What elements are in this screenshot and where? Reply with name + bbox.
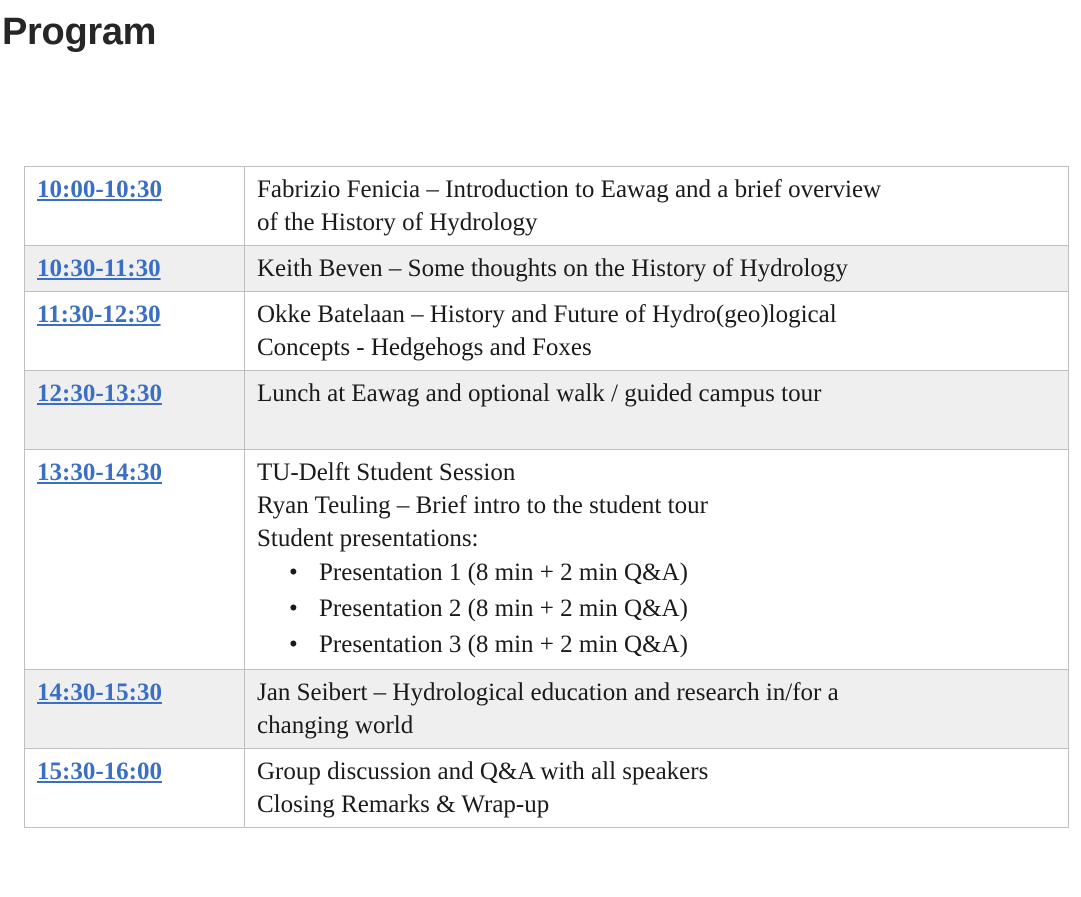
- schedule-description-line: of the History of Hydrology: [257, 206, 1058, 239]
- schedule-row: 14:30-15:30Jan Seibert – Hydrological ed…: [25, 670, 1069, 749]
- schedule-description-cell: TU-Delft Student SessionRyan Teuling – B…: [245, 450, 1069, 670]
- schedule-bullet-item: Presentation 1 (8 min + 2 min Q&A): [319, 555, 1058, 591]
- schedule-description-line: Closing Remarks & Wrap-up: [257, 788, 1058, 821]
- schedule-time-link[interactable]: 12:30-13:30: [37, 380, 162, 407]
- schedule-row: 11:30-12:30Okke Batelaan – History and F…: [25, 292, 1069, 371]
- schedule-description-cell: Lunch at Eawag and optional walk / guide…: [245, 371, 1069, 450]
- page-title: Program: [0, 0, 1081, 54]
- schedule-row: 12:30-13:30Lunch at Eawag and optional w…: [25, 371, 1069, 450]
- schedule-description-cell: Keith Beven – Some thoughts on the Histo…: [245, 246, 1069, 292]
- schedule-spacer-line: [257, 410, 1058, 443]
- schedule-time-cell: 14:30-15:30: [25, 670, 245, 749]
- schedule-row: 13:30-14:30TU-Delft Student SessionRyan …: [25, 450, 1069, 670]
- schedule-time-cell: 13:30-14:30: [25, 450, 245, 670]
- schedule-description-line: Group discussion and Q&A with all speake…: [257, 755, 1058, 788]
- schedule-time-link[interactable]: 15:30-16:00: [37, 758, 162, 785]
- schedule-row: 10:00-10:30Fabrizio Fenicia – Introducti…: [25, 167, 1069, 246]
- schedule-description-line: Keith Beven – Some thoughts on the Histo…: [257, 252, 1058, 285]
- schedule-description-cell: Group discussion and Q&A with all speake…: [245, 749, 1069, 828]
- schedule-row: 15:30-16:00Group discussion and Q&A with…: [25, 749, 1069, 828]
- schedule-description-line: Ryan Teuling – Brief intro to the studen…: [257, 489, 1058, 522]
- schedule-time-link[interactable]: 10:00-10:30: [37, 176, 162, 203]
- schedule-time-link[interactable]: 11:30-12:30: [37, 301, 161, 328]
- schedule-row: 10:30-11:30Keith Beven – Some thoughts o…: [25, 246, 1069, 292]
- schedule-description-line: Concepts - Hedgehogs and Foxes: [257, 331, 1058, 364]
- schedule-bullet-item: Presentation 3 (8 min + 2 min Q&A): [319, 627, 1058, 663]
- schedule-description-line: Jan Seibert – Hydrological education and…: [257, 676, 1058, 709]
- schedule-description-cell: Fabrizio Fenicia – Introduction to Eawag…: [245, 167, 1069, 246]
- schedule-description-line: Fabrizio Fenicia – Introduction to Eawag…: [257, 173, 1058, 206]
- schedule-description-line: changing world: [257, 709, 1058, 742]
- schedule-time-cell: 15:30-16:00: [25, 749, 245, 828]
- schedule-time-link[interactable]: 10:30-11:30: [37, 255, 161, 282]
- schedule-time-link[interactable]: 14:30-15:30: [37, 679, 162, 706]
- program-page: Program 10:00-10:30Fabrizio Fenicia – In…: [0, 0, 1081, 897]
- schedule-time-link[interactable]: 13:30-14:30: [37, 459, 162, 486]
- schedule-bullet-item: Presentation 2 (8 min + 2 min Q&A): [319, 591, 1058, 627]
- schedule-time-cell: 11:30-12:30: [25, 292, 245, 371]
- schedule-description-line: Student presentations:: [257, 522, 1058, 555]
- schedule-time-cell: 10:30-11:30: [25, 246, 245, 292]
- schedule-description-line: Okke Batelaan – History and Future of Hy…: [257, 298, 1058, 331]
- schedule-time-cell: 10:00-10:30: [25, 167, 245, 246]
- schedule-description-cell: Okke Batelaan – History and Future of Hy…: [245, 292, 1069, 371]
- schedule-description-line: Lunch at Eawag and optional walk / guide…: [257, 377, 1058, 410]
- program-table-container: 10:00-10:30Fabrizio Fenicia – Introducti…: [24, 166, 1068, 828]
- schedule-bullet-list: Presentation 1 (8 min + 2 min Q&A)Presen…: [257, 555, 1058, 663]
- schedule-time-cell: 12:30-13:30: [25, 371, 245, 450]
- program-schedule-table: 10:00-10:30Fabrizio Fenicia – Introducti…: [24, 166, 1069, 828]
- schedule-description-line: TU-Delft Student Session: [257, 456, 1058, 489]
- schedule-description-cell: Jan Seibert – Hydrological education and…: [245, 670, 1069, 749]
- program-table-body: 10:00-10:30Fabrizio Fenicia – Introducti…: [25, 167, 1069, 828]
